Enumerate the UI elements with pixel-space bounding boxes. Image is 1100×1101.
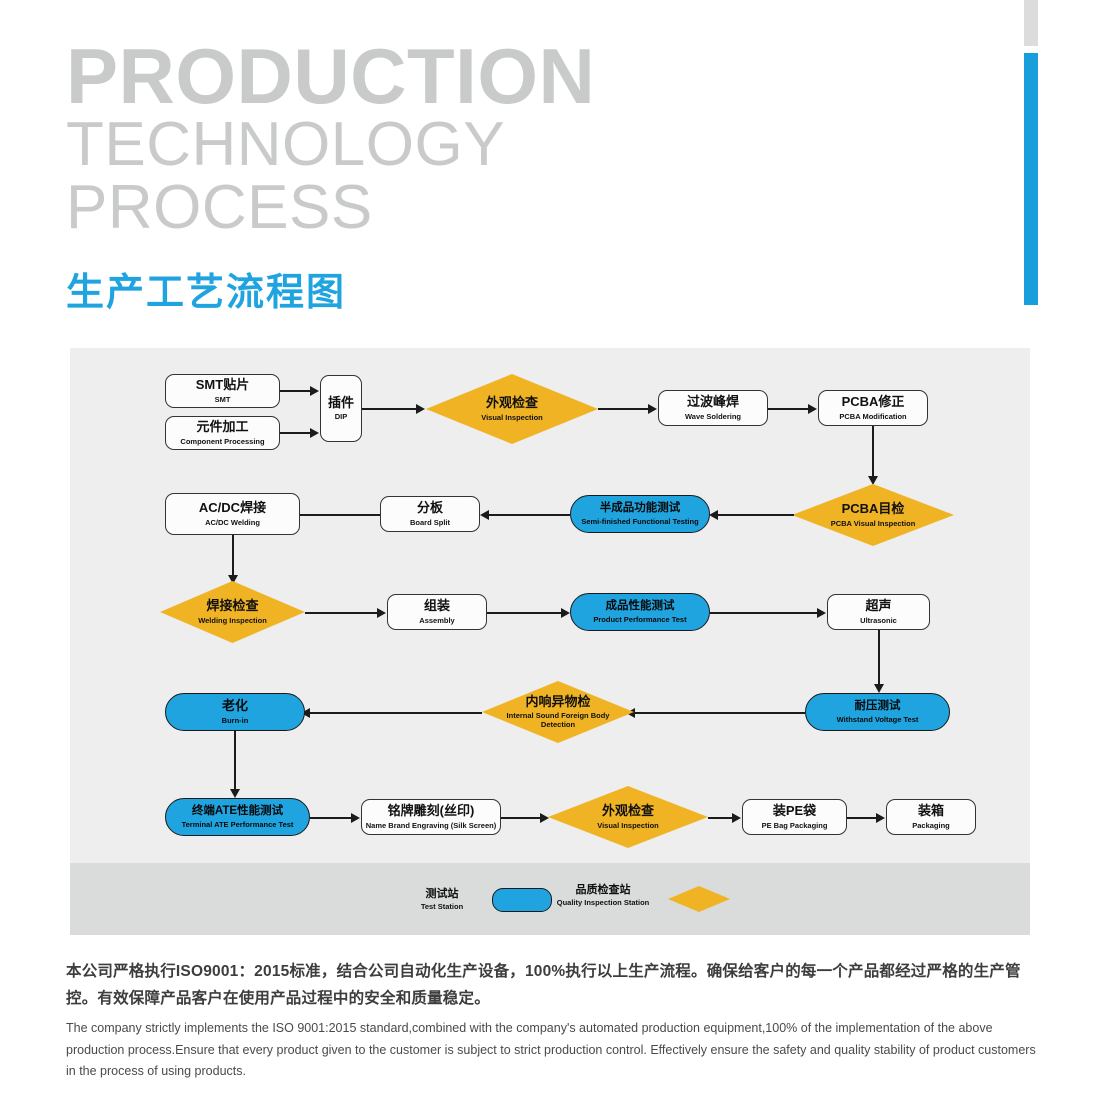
node-perf-cn: 成品性能测试 — [606, 600, 675, 613]
connector-wave-pcbamod — [768, 408, 808, 410]
connector-ate-engraving — [310, 817, 352, 819]
connector-component-dip — [280, 432, 310, 434]
node-withstand-cn: 耐压测试 — [855, 700, 901, 713]
node-wave-cn: 过波峰焊 — [687, 395, 739, 410]
arrowhead-dip-visual1 — [416, 404, 425, 414]
node-withstand-voltage-test[interactable]: 耐压测试 Withstand Voltage Test — [805, 693, 950, 731]
arrowhead-visual2-pebag — [732, 813, 741, 823]
page-title-block: PRODUCTION TECHNOLOGY PROCESS 生产工艺流程图 — [66, 40, 826, 316]
node-pcbavis-en: PCBA Visual Inspection — [831, 519, 916, 528]
node-dip[interactable]: 插件 DIP — [320, 375, 362, 442]
node-visual2-en: Visual Inspection — [597, 821, 659, 830]
arrowhead-visual1-wave — [648, 404, 657, 414]
node-semifunc-cn: 半成品功能测试 — [600, 502, 681, 515]
connector-withstand-internal — [635, 712, 805, 714]
node-acdc-welding[interactable]: AC/DC焊接 AC/DC Welding — [165, 493, 300, 535]
connector-welding-assembly — [305, 612, 378, 614]
node-packaging[interactable]: 装箱 Packaging — [886, 799, 976, 835]
node-ultrasonic-en: Ultrasonic — [860, 616, 897, 625]
connector-engraving-visual2 — [501, 817, 541, 819]
node-semi-finished-functional-testing[interactable]: 半成品功能测试 Semi-finished Functional Testing — [570, 495, 710, 533]
node-visual-inspection-1[interactable]: 外观检查 Visual Inspection — [426, 374, 598, 444]
legend-item-quality-inspection: 品质检查站 Quality Inspection Station — [548, 881, 658, 907]
node-visual-inspection-2[interactable]: 外观检查 Visual Inspection — [548, 786, 708, 848]
node-assembly-en: Assembly — [419, 616, 454, 625]
node-engraving-en: Name Brand Engraving (Silk Screen) — [366, 821, 496, 830]
legend-test-station-cn: 测试站 — [402, 885, 482, 901]
arrowhead-ultrasonic-withstand — [874, 684, 884, 693]
node-welding-inspection[interactable]: 焊接检查 Welding Inspection — [160, 581, 305, 643]
accent-bar-blue — [1024, 53, 1038, 305]
node-wave-soldering[interactable]: 过波峰焊 Wave Soldering — [658, 390, 768, 426]
node-component-en: Component Processing — [180, 437, 264, 446]
arrowhead-pcbavis-semifunc — [709, 510, 718, 520]
connector-acdc-welding — [232, 535, 234, 577]
title-line-technology: TECHNOLOGY — [66, 113, 826, 176]
node-dip-en: DIP — [335, 412, 348, 421]
accent-bar-gray — [1024, 0, 1038, 46]
arrowhead-perf-ultrasonic — [817, 608, 826, 618]
legend-quality-en: Quality Inspection Station — [548, 898, 658, 907]
connector-pebag-packaging — [847, 817, 877, 819]
node-packaging-en: Packaging — [912, 821, 950, 830]
footer-paragraph-english: The company strictly implements the ISO … — [66, 1018, 1041, 1083]
legend-swatch-test-station — [492, 888, 552, 912]
node-visual1-en: Visual Inspection — [481, 413, 543, 422]
connector-internal-burnin — [310, 712, 482, 714]
node-pe-bag-packaging[interactable]: 装PE袋 PE Bag Packaging — [742, 799, 847, 835]
subtitle-chinese: 生产工艺流程图 — [66, 261, 826, 316]
node-acdc-en: AC/DC Welding — [205, 518, 260, 527]
connector-assembly-perf — [487, 612, 562, 614]
node-terminal-ate-performance-test[interactable]: 终端ATE性能测试 Terminal ATE Performance Test — [165, 798, 310, 836]
node-assembly-cn: 组装 — [424, 599, 450, 614]
legend-swatch-quality-inspection — [668, 886, 730, 912]
arrowhead-pebag-packaging — [876, 813, 885, 823]
node-internal-sound-foreign-body-detection[interactable]: 内响异物检 Internal Sound Foreign Body Detect… — [482, 681, 634, 743]
node-name-brand-engraving[interactable]: 铭牌雕刻(丝印) Name Brand Engraving (Silk Scre… — [361, 799, 501, 835]
node-pebag-cn: 装PE袋 — [773, 804, 816, 819]
arrowhead-semifunc-boardsplit — [480, 510, 489, 520]
node-burnin-cn: 老化 — [222, 699, 248, 714]
node-pcba-visual-inspection[interactable]: PCBA目检 PCBA Visual Inspection — [792, 484, 954, 546]
node-ate-en: Terminal ATE Performance Test — [182, 820, 294, 829]
node-visual1-cn: 外观检查 — [486, 396, 538, 411]
node-component-cn: 元件加工 — [196, 420, 248, 435]
node-boardsplit-cn: 分板 — [417, 501, 443, 516]
node-ultrasonic[interactable]: 超声 Ultrasonic — [827, 594, 930, 630]
node-board-split[interactable]: 分板 Board Split — [380, 496, 480, 532]
connector-visual2-pebag — [708, 817, 733, 819]
node-ultrasonic-cn: 超声 — [865, 599, 891, 614]
connector-pcbavis-semifunc — [718, 514, 794, 516]
arrowhead-smt-dip — [310, 386, 319, 396]
arrowhead-burnin-ate — [230, 789, 240, 798]
connector-perf-ultrasonic — [710, 612, 818, 614]
node-smt-en: SMT — [215, 395, 231, 404]
arrowhead-assembly-perf — [561, 608, 570, 618]
connector-ultrasonic-withstand — [878, 630, 880, 686]
title-line-process: PROCESS — [66, 176, 826, 239]
node-product-performance-test[interactable]: 成品性能测试 Product Performance Test — [570, 593, 710, 631]
node-pcbavis-cn: PCBA目检 — [842, 502, 905, 517]
node-pcbamod-en: PCBA Modification — [839, 412, 906, 421]
connector-pcbamod-pcbavis — [872, 426, 874, 478]
node-burn-in[interactable]: 老化 Burn-in — [165, 693, 305, 731]
node-internal-cn: 内响异物检 — [525, 695, 590, 710]
node-pebag-en: PE Bag Packaging — [762, 821, 828, 830]
node-semifunc-en: Semi-finished Functional Testing — [581, 517, 698, 526]
node-visual2-cn: 外观检查 — [602, 804, 654, 819]
connector-semifunc-boardsplit — [489, 514, 570, 516]
node-pcba-modification[interactable]: PCBA修正 PCBA Modification — [818, 390, 928, 426]
legend-quality-cn: 品质检查站 — [548, 881, 658, 897]
node-packaging-cn: 装箱 — [918, 804, 944, 819]
node-engraving-cn: 铭牌雕刻(丝印) — [388, 804, 475, 819]
connector-burnin-ate — [234, 731, 236, 791]
node-assembly[interactable]: 组装 Assembly — [387, 594, 487, 630]
node-ate-cn: 终端ATE性能测试 — [192, 805, 283, 818]
title-line-production: PRODUCTION — [66, 40, 826, 113]
arrowhead-component-dip — [310, 428, 319, 438]
node-internal-en: Internal Sound Foreign Body Detection — [490, 711, 627, 729]
node-perf-en: Product Performance Test — [593, 615, 686, 624]
node-pcbamod-cn: PCBA修正 — [842, 395, 905, 410]
node-welding-en: Welding Inspection — [198, 616, 267, 625]
connector-visual1-wave — [598, 408, 648, 410]
flowchart-panel: SMT贴片 SMT 元件加工 Component Processing 插件 D… — [70, 348, 1030, 863]
node-wave-en: Wave Soldering — [685, 412, 741, 421]
node-component-processing[interactable]: 元件加工 Component Processing — [165, 416, 280, 450]
node-smt-cn: SMT贴片 — [196, 378, 249, 393]
connector-smt-dip — [280, 390, 310, 392]
node-welding-cn: 焊接检查 — [206, 599, 258, 614]
node-acdc-cn: AC/DC焊接 — [199, 501, 266, 516]
node-burnin-en: Burn-in — [222, 716, 249, 725]
node-dip-cn: 插件 — [328, 396, 354, 411]
arrowhead-wave-pcbamod — [808, 404, 817, 414]
arrowhead-welding-assembly — [377, 608, 386, 618]
legend-test-station-en: Test Station — [402, 902, 482, 911]
node-smt[interactable]: SMT贴片 SMT — [165, 374, 280, 408]
node-withstand-en: Withstand Voltage Test — [837, 715, 919, 724]
node-boardsplit-en: Board Split — [410, 518, 450, 527]
legend-band: 测试站 Test Station 品质检查站 Quality Inspectio… — [70, 863, 1030, 935]
arrowhead-ate-engraving — [351, 813, 360, 823]
footer-paragraph-chinese: 本公司严格执行ISO9001：2015标准，结合公司自动化生产设备，100%执行… — [66, 958, 1041, 1012]
legend-item-test-station: 测试站 Test Station — [402, 885, 482, 911]
connector-dip-visual1 — [362, 408, 417, 410]
